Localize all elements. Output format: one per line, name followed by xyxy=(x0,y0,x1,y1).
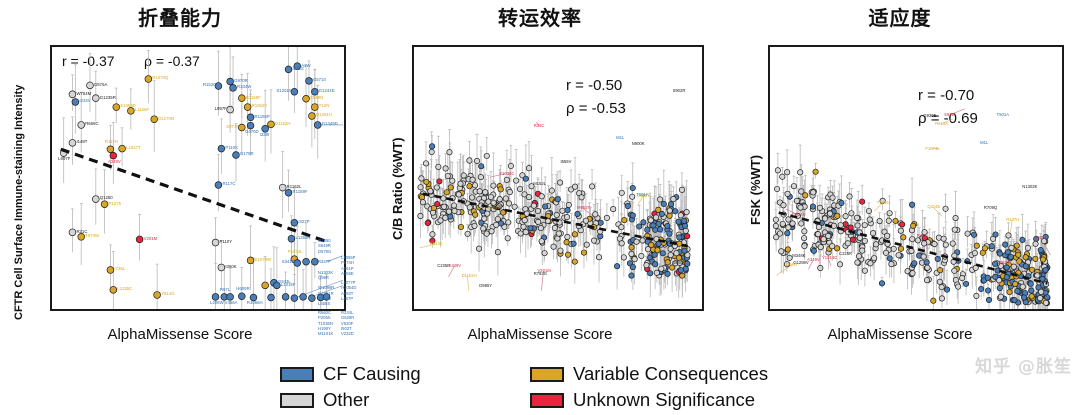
legend-item-variable-consequences: Variable Consequences xyxy=(530,363,768,385)
scatter-layer-folding xyxy=(52,47,344,309)
y-tick-mark xyxy=(50,129,52,131)
y-tick-mark xyxy=(768,46,770,48)
y-tick-mark xyxy=(50,193,52,195)
y-tick-mark xyxy=(412,134,414,136)
x-tick-mark xyxy=(687,309,689,311)
y-axis-label-folding: CFTR Cell Surface Immune-staining Intens… xyxy=(13,85,25,320)
y-tick-mark xyxy=(768,155,770,157)
y-tick-mark xyxy=(768,228,770,230)
legend: CF Causing Variable Consequences Other U… xyxy=(280,363,800,413)
y-tick-mark xyxy=(768,265,770,267)
x-tick-mark xyxy=(270,309,272,311)
legend-label-unknown-significance: Unknown Significance xyxy=(573,389,755,411)
legend-item-unknown-significance: Unknown Significance xyxy=(530,389,755,411)
plot-area-transport: r = -0.50 ρ = -0.53 -500501001502002500.… xyxy=(412,45,704,311)
x-tick-mark xyxy=(456,309,458,311)
y-tick-mark xyxy=(768,119,770,121)
x-axis-label-fitness: AlphaMissense Score xyxy=(720,326,1080,343)
y-tick-mark xyxy=(412,90,414,92)
x-tick-mark xyxy=(153,309,155,311)
variant-callout-block: R234L G628R V520F I502T V232D xyxy=(341,310,354,336)
legend-label-other: Other xyxy=(323,389,369,411)
y-tick-mark xyxy=(412,177,414,179)
legend-swatch-other xyxy=(280,393,314,408)
x-axis-label-folding: AlphaMissense Score xyxy=(0,326,360,343)
scatter-layer-transport xyxy=(414,47,702,309)
y-tick-mark xyxy=(50,65,52,67)
y-axis-label-fitness: FSK (%WT) xyxy=(748,155,763,225)
y-tick-mark xyxy=(768,301,770,303)
watermark: 知乎 @胀笙 xyxy=(975,352,1072,377)
legend-swatch-unknown-significance xyxy=(530,393,564,408)
legend-label-cf-causing: CF Causing xyxy=(323,363,421,385)
x-tick-mark xyxy=(212,309,214,311)
y-tick-mark xyxy=(412,308,414,310)
variant-callout-block: L1065P P574H A561P A455E xyxy=(341,255,355,276)
y-tick-mark xyxy=(50,257,52,259)
panel-title-folding: 折叠能力 xyxy=(0,2,360,31)
x-tick-mark xyxy=(813,309,815,311)
chart-panel-fitness: 适应度 FSK (%WT) r = -0.70 ρ = -0.69 020406… xyxy=(720,0,1080,360)
scatter-layer-fitness xyxy=(770,47,1062,309)
x-tick-mark xyxy=(629,309,631,311)
x-tick-mark xyxy=(95,309,97,311)
y-axis-label-transport: C/B Ratio (%WT) xyxy=(390,137,405,240)
chart-panel-transport: 转运效率 C/B Ratio (%WT) r = -0.50 ρ = -0.53… xyxy=(360,0,720,360)
panel-title-fitness: 适应度 xyxy=(720,2,1080,31)
x-axis-label-transport: AlphaMissense Score xyxy=(360,326,720,343)
x-tick-mark xyxy=(572,309,574,311)
legend-item-other: Other xyxy=(280,389,369,411)
x-tick-mark xyxy=(871,309,873,311)
y-tick-mark xyxy=(412,265,414,267)
y-tick-mark xyxy=(50,161,52,163)
x-tick-mark xyxy=(514,309,516,311)
variant-callout-block: L1077P H1054D A993T L467P xyxy=(341,280,356,301)
y-tick-mark xyxy=(768,83,770,85)
variant-callout-block: R560C P205S T1036N H199Y M1101K xyxy=(318,310,333,336)
x-tick-mark xyxy=(930,309,932,311)
panel-title-transport: 转运效率 xyxy=(360,2,720,31)
y-tick-mark xyxy=(412,221,414,223)
plot-area-folding: r = -0.37 ρ = -0.37 25050075010001250150… xyxy=(50,45,346,311)
chart-panel-folding: 折叠能力 CFTR Cell Surface Immune-staining I… xyxy=(0,0,360,360)
y-tick-mark xyxy=(412,46,414,48)
y-tick-mark xyxy=(50,289,52,291)
y-tick-mark xyxy=(768,192,770,194)
variant-callout-block: G1260 S549R D579G R347P N1303K Q98R W109… xyxy=(318,238,334,306)
plot-area-fitness: r = -0.70 ρ = -0.69 0204060801001201400.… xyxy=(768,45,1064,311)
legend-item-cf-causing: CF Causing xyxy=(280,363,421,385)
legend-label-variable-consequences: Variable Consequences xyxy=(573,363,768,385)
x-tick-mark xyxy=(1047,309,1049,311)
y-tick-mark xyxy=(50,225,52,227)
legend-swatch-cf-causing xyxy=(280,367,314,382)
y-tick-mark xyxy=(50,97,52,99)
x-tick-mark xyxy=(988,309,990,311)
legend-swatch-variable-consequences xyxy=(530,367,564,382)
